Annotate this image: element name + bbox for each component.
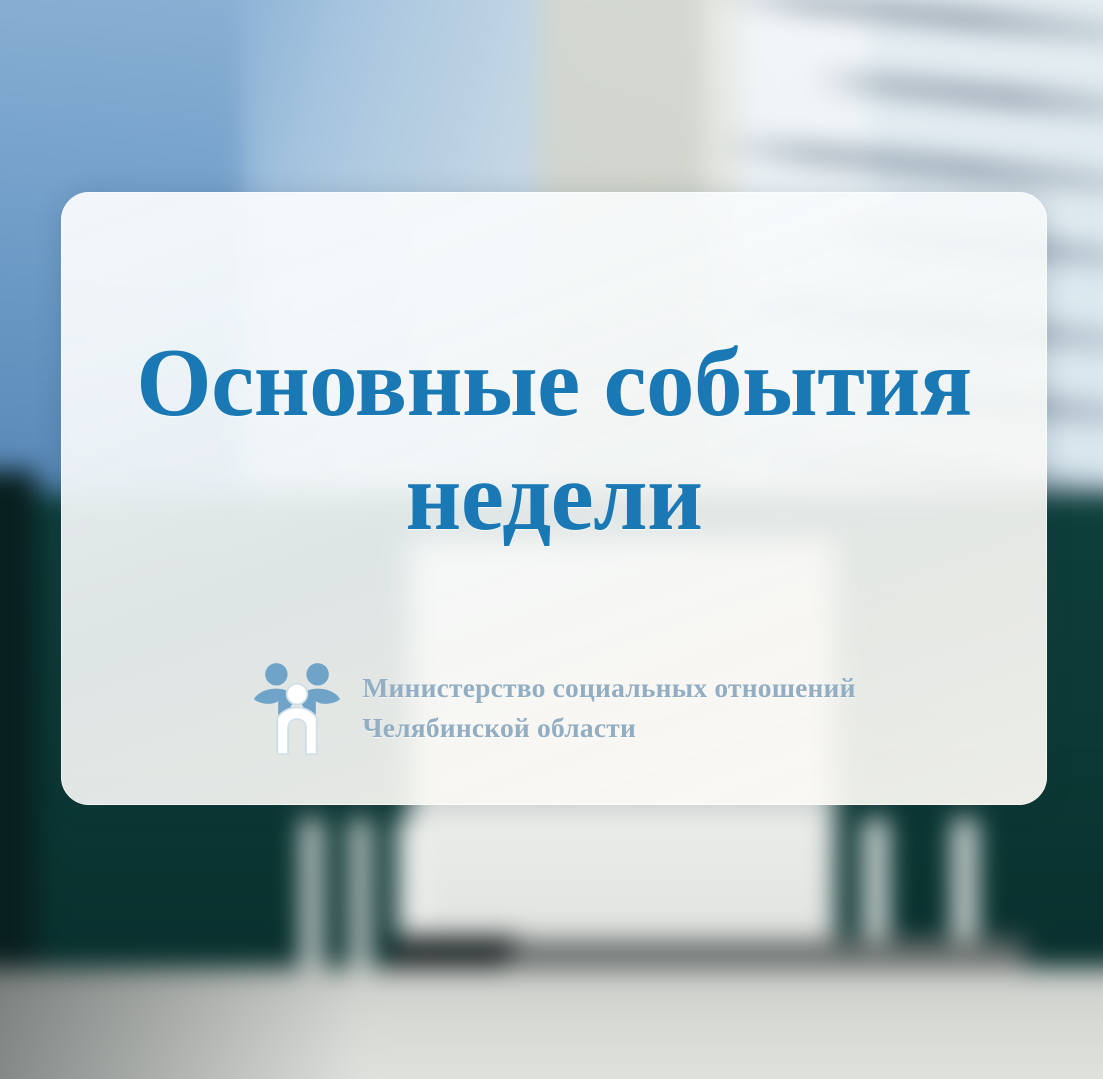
- ministry-name-line-1: Министерство социальных отношений: [362, 668, 855, 707]
- background-green-wall-shadow: [0, 470, 37, 1003]
- background-pillar: [352, 818, 370, 980]
- family-logo-icon: [252, 660, 342, 755]
- window-band: [810, 70, 1103, 118]
- content-card: Основные события недели Министерство соц…: [61, 192, 1047, 805]
- slide-canvas: Основные события недели Министерство соц…: [0, 0, 1103, 1079]
- ministry-name-line-2: Челябинской области: [362, 708, 855, 747]
- ministry-name: Министерство социальных отношений Челяби…: [362, 668, 855, 746]
- page-title-line-1: Основные события: [61, 324, 1047, 442]
- window-band: [714, 136, 1103, 193]
- page-title-line-2: недели: [61, 438, 1047, 556]
- background-pillar: [303, 818, 321, 980]
- window-band: [714, 0, 1103, 44]
- background-pavement-shadow: [0, 968, 362, 1079]
- ministry-branding: Министерство социальных отношений Челяби…: [61, 660, 1047, 755]
- page-title: Основные события недели: [61, 192, 1047, 557]
